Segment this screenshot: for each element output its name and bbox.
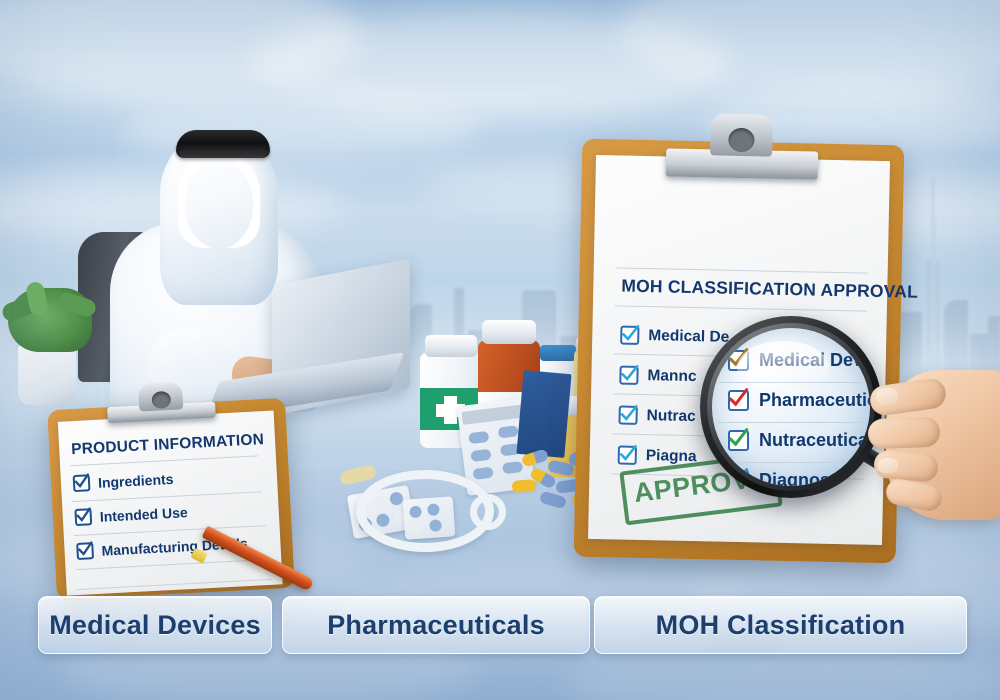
- checkbox-checked-icon[interactable]: [728, 390, 749, 411]
- scene-root: MOH CLASSIFICATION APPROVAL Medical De M…: [0, 0, 1000, 700]
- category-tag-row: Medical Devices Pharmaceuticals MOH Clas…: [0, 596, 1000, 656]
- fingernail: [876, 388, 898, 405]
- magnified-checklist-label: Diagnostic Kit: [759, 470, 870, 486]
- checkbox-checked-icon[interactable]: [74, 508, 92, 526]
- tubing-connector: [470, 494, 506, 530]
- magnified-checklist-item[interactable]: Diagnostic Kit: [728, 470, 870, 486]
- checkbox-checked-icon[interactable]: [620, 326, 639, 345]
- checklist-label: Nutrac: [646, 407, 695, 426]
- magnified-checklist-item[interactable]: Medical Device: [728, 350, 870, 371]
- tag-medical-devices[interactable]: Medical Devices: [38, 596, 272, 654]
- magnified-checklist-label: Medical Device: [759, 350, 870, 371]
- tag-moh-classification[interactable]: MOH Classification: [594, 596, 967, 654]
- checkbox-checked-icon[interactable]: [619, 366, 638, 385]
- hand-middle-finger: [867, 417, 940, 449]
- checklist-item[interactable]: Mannc: [619, 366, 696, 387]
- hand-holding-magnifier: [862, 352, 1000, 527]
- magnifier-lens: Medical Device Pharmaceutical Nutraceuti…: [712, 328, 870, 486]
- checklist-label: Ingredients: [98, 470, 174, 490]
- magnified-checklist-item[interactable]: Pharmaceutical: [728, 390, 870, 411]
- tag-pharmaceuticals[interactable]: Pharmaceuticals: [282, 596, 590, 654]
- tag-label: Medical Devices: [49, 610, 261, 641]
- checkbox-checked-icon[interactable]: [618, 405, 637, 424]
- syrup-bottle-cap: [482, 320, 536, 344]
- checkbox-checked-icon[interactable]: [618, 445, 637, 464]
- checklist-item[interactable]: Nutrac: [618, 405, 695, 426]
- medicine-leaflet: [516, 370, 571, 458]
- checkbox-checked-icon[interactable]: [728, 350, 749, 371]
- checkbox-checked-icon[interactable]: [728, 430, 749, 451]
- magnifying-glass[interactable]: Medical Device Pharmaceutical Nutraceuti…: [700, 316, 882, 498]
- fingernail: [878, 458, 898, 473]
- magnified-checklist-label: Pharmaceutical: [759, 390, 870, 411]
- product-information-clipboard[interactable]: PRODUCT INFORMATION Ingredients Intended…: [47, 398, 295, 600]
- checkbox-checked-icon[interactable]: [73, 474, 91, 492]
- checkbox-checked-icon[interactable]: [728, 470, 749, 486]
- bottle-cap-blue: [540, 345, 576, 361]
- bottle-cap-white: [425, 335, 477, 357]
- checkbox-checked-icon[interactable]: [76, 542, 94, 560]
- tag-label: MOH Classification: [656, 610, 906, 641]
- tag-label: Pharmaceuticals: [327, 610, 545, 641]
- person-agal-cord-lower: [180, 146, 266, 158]
- magnified-checklist-item[interactable]: Nutraceutical: [728, 430, 870, 451]
- checklist-label: Mannc: [647, 367, 696, 386]
- magnified-checklist-label: Nutraceutical: [759, 430, 870, 451]
